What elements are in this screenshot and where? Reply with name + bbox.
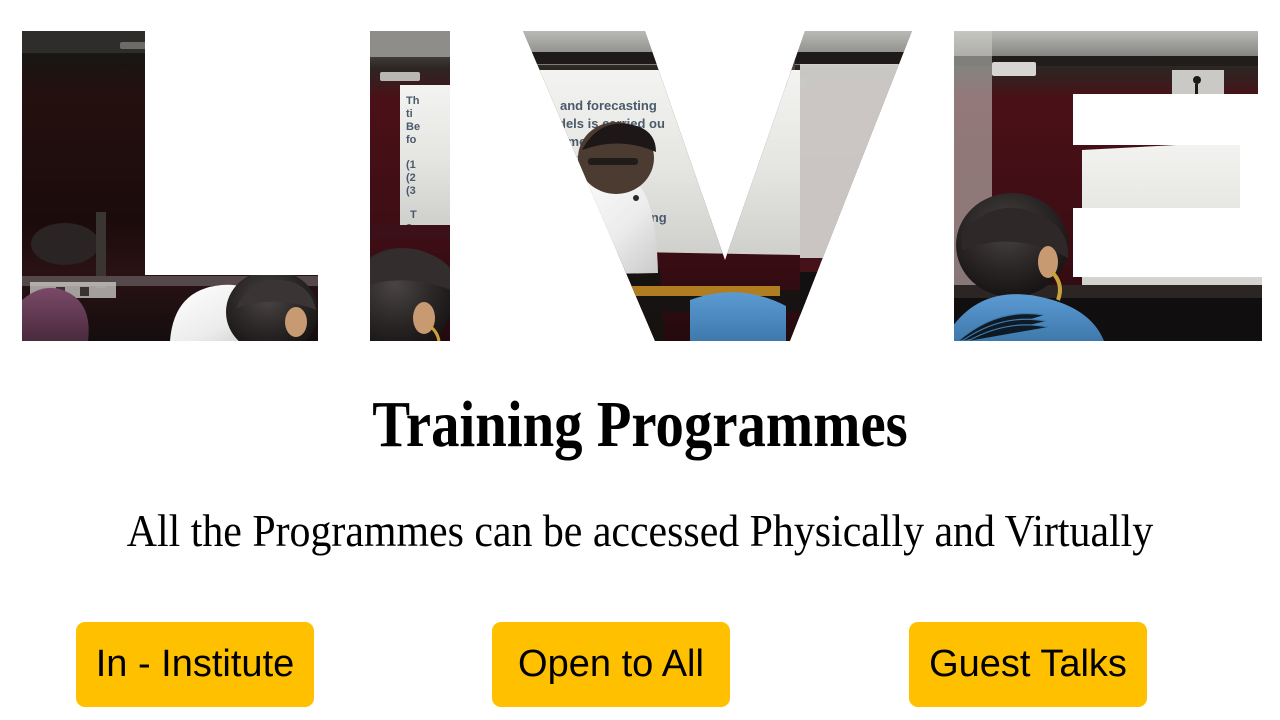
letter-L-photo bbox=[22, 31, 322, 354]
page-title-container: Training Programmes bbox=[0, 392, 1280, 458]
page-subtitle: All the Programmes can be accessed Physi… bbox=[45, 508, 1235, 555]
live-banner: Th ti Be fo (1 (2 (3 T s bbox=[0, 0, 1280, 372]
page-subtitle-container: All the Programmes can be accessed Physi… bbox=[0, 508, 1280, 555]
open-to-all-button[interactable]: Open to All bbox=[492, 622, 730, 707]
in-institute-button[interactable]: In - Institute bbox=[76, 622, 314, 707]
svg-text:ti: ti bbox=[406, 108, 413, 120]
svg-text:fo: fo bbox=[406, 134, 417, 146]
letter-I-photo: Th ti Be fo (1 (2 (3 T s bbox=[348, 31, 470, 352]
letter-E-photo bbox=[950, 31, 1270, 341]
svg-text:(3: (3 bbox=[406, 185, 416, 197]
live-word-artwork: Th ti Be fo (1 (2 (3 T s bbox=[0, 0, 1280, 372]
svg-text:Th: Th bbox=[406, 95, 420, 107]
svg-text:Be: Be bbox=[406, 121, 420, 133]
cta-button-row: In - Institute Open to All Guest Talks bbox=[0, 622, 1280, 707]
svg-text:and forecasting: and forecasting bbox=[560, 98, 657, 113]
svg-text:(1: (1 bbox=[406, 159, 416, 171]
svg-text:T: T bbox=[410, 209, 417, 221]
letter-V-photo: and forecasting dels is carried ou I) me… bbox=[510, 31, 920, 341]
page-title: Training Programmes bbox=[90, 392, 1191, 458]
svg-text:(2: (2 bbox=[406, 172, 416, 184]
guest-talks-button[interactable]: Guest Talks bbox=[909, 622, 1147, 707]
